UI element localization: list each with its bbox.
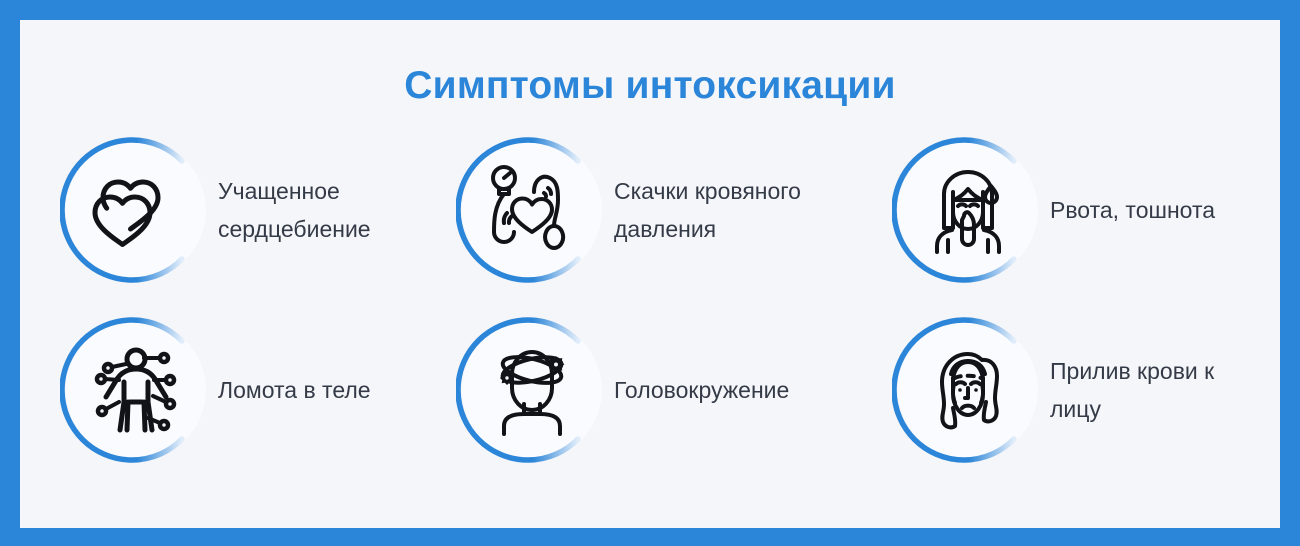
blood-pressure-icon xyxy=(482,160,582,260)
nausea-person-icon xyxy=(918,160,1018,260)
flushed-face-icon xyxy=(918,340,1018,440)
infographic-poster: Симптомы интоксикации xyxy=(0,0,1300,546)
symptom-label: Ломота в теле xyxy=(218,371,371,409)
symptom-item-facial-flushing[interactable]: Прилив крови к лицу xyxy=(892,308,1240,472)
icon-badge xyxy=(60,314,212,466)
content-panel: Симптомы интоксикации xyxy=(20,20,1280,528)
dizzy-head-icon xyxy=(482,340,582,440)
symptom-item-body-aches[interactable]: Ломота в теле xyxy=(60,308,371,472)
icon-badge xyxy=(892,134,1044,286)
symptom-label: Головокружение xyxy=(614,371,789,409)
symptom-label: Скачки кровяного давления xyxy=(614,172,894,248)
symptoms-grid: Учащенное сердцебиение xyxy=(60,128,1240,498)
double-heart-icon xyxy=(86,160,186,260)
symptom-label: Прилив крови к лицу xyxy=(1050,352,1240,428)
icon-badge xyxy=(456,314,608,466)
page-title: Симптомы интоксикации xyxy=(20,64,1280,109)
symptom-item-dizziness[interactable]: Головокружение xyxy=(456,308,789,472)
icon-badge xyxy=(456,134,608,286)
icon-badge xyxy=(892,314,1044,466)
symptom-label: Учащенное сердцебиение xyxy=(218,172,478,248)
body-pain-points-icon xyxy=(86,340,186,440)
symptom-label: Рвота, тошнота xyxy=(1050,191,1215,229)
symptom-item-rapid-heartbeat[interactable]: Учащенное сердцебиение xyxy=(60,128,478,292)
symptom-item-vomiting-nausea[interactable]: Рвота, тошнота xyxy=(892,128,1215,292)
icon-badge xyxy=(60,134,212,286)
symptom-item-blood-pressure[interactable]: Скачки кровяного давления xyxy=(456,128,894,292)
